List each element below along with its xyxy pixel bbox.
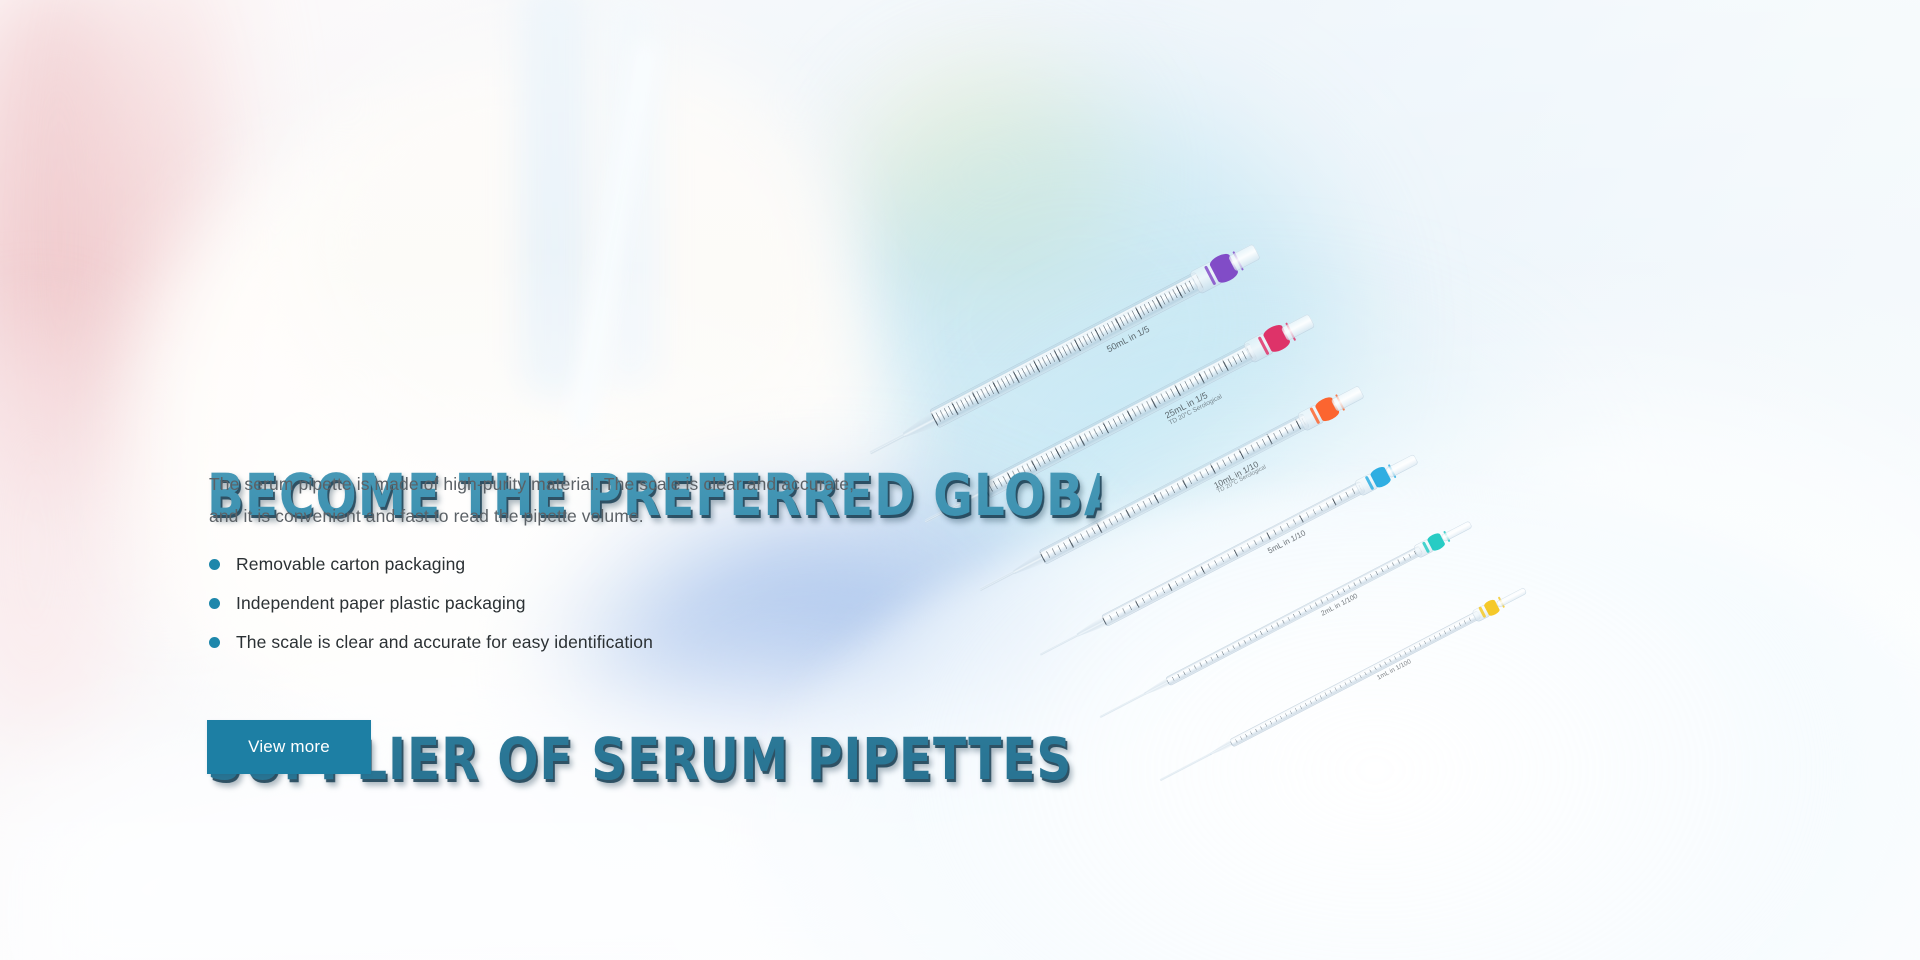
description-line-1: The serum pipette is made of high-purity… <box>209 468 909 500</box>
list-item: Removable carton packaging <box>209 545 849 584</box>
view-more-button[interactable]: View more <box>207 720 371 774</box>
pipette-1ml: 1mL in 1/100 <box>1158 586 1527 784</box>
feature-label: Removable carton packaging <box>236 556 465 574</box>
hero-banner: 50mL in 1/5 25mL in 1/5 TD 20°C Serologi… <box>0 0 1920 960</box>
hero-content: BECOME THE PREFERRED GLOBAL SUPPLIER OF … <box>207 0 1187 960</box>
bullet-dot-icon <box>209 598 220 609</box>
feature-label: The scale is clear and accurate for easy… <box>236 634 653 652</box>
list-item: Independent paper plastic packaging <box>209 584 849 623</box>
description-line-2: and it is convenient and fast to read th… <box>209 500 909 532</box>
feature-list: Removable carton packaging Independent p… <box>209 545 849 662</box>
list-item: The scale is clear and accurate for easy… <box>209 623 849 662</box>
bullet-dot-icon <box>209 637 220 648</box>
bullet-dot-icon <box>209 559 220 570</box>
hero-description: The serum pipette is made of high-purity… <box>209 468 909 532</box>
feature-label: Independent paper plastic packaging <box>236 595 526 613</box>
